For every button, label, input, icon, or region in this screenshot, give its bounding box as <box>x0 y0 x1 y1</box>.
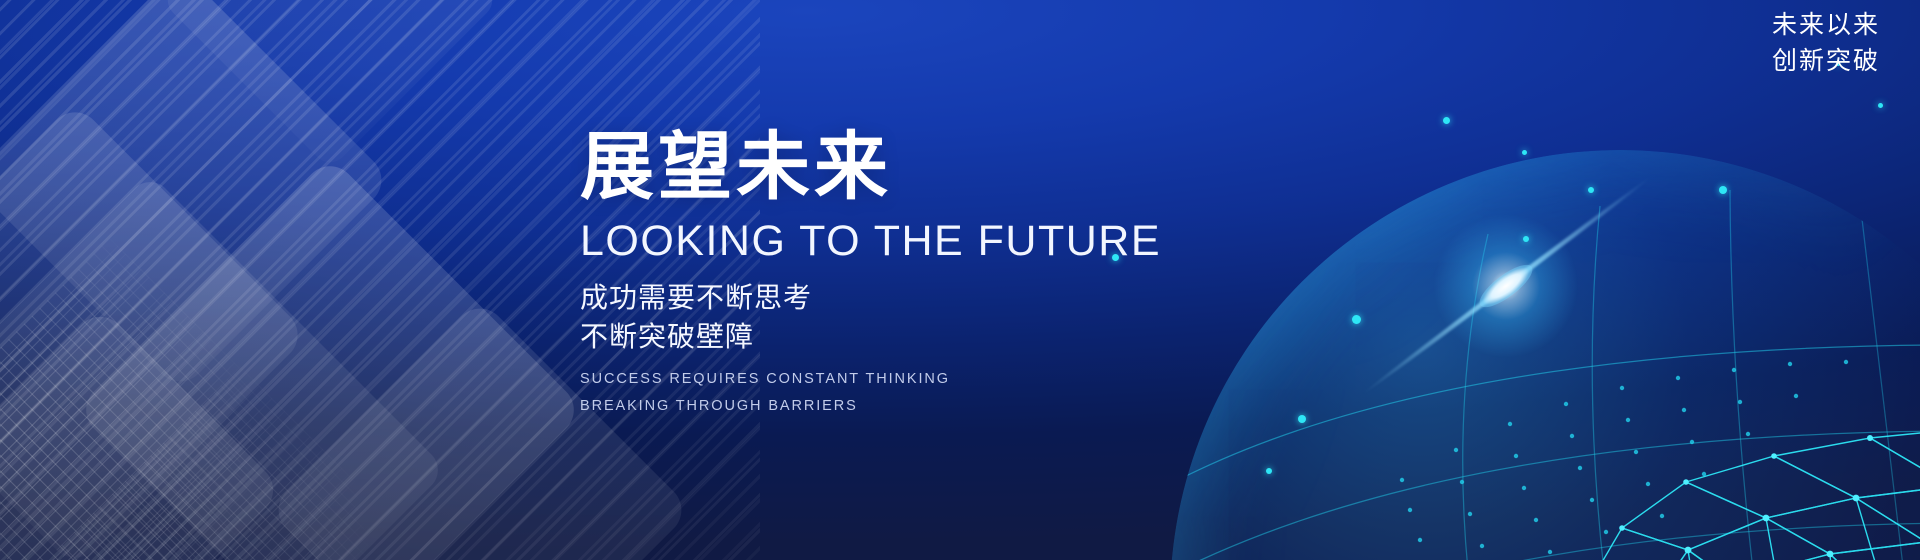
subtitle-chinese-line-2: 不断突破壁障 <box>580 318 1280 357</box>
diamond-shape-2 <box>0 102 308 560</box>
corner-slogan-line-1: 未来以来 <box>1772 8 1880 44</box>
floating-dot <box>1522 150 1527 155</box>
lens-flare-core <box>1474 258 1538 314</box>
floating-dot <box>1523 236 1529 242</box>
page-title: 展望未来 <box>580 128 1280 206</box>
floating-dot <box>1443 117 1450 124</box>
corner-slogan-line-2: 创新突破 <box>1772 44 1880 80</box>
dot-grid-pattern-icon <box>0 238 322 560</box>
floating-dot <box>1588 187 1594 193</box>
subtitle-chinese: 成功需要不断思考 不断突破壁障 <box>580 279 1280 356</box>
globe-rim-glow <box>1170 150 1920 560</box>
diamond-shape-3 <box>75 155 584 560</box>
globe-network-mesh-icon <box>1170 150 1920 560</box>
diamond-wedge <box>0 173 447 560</box>
globe-sphere <box>1170 150 1920 560</box>
corner-slogan: 未来以来 创新突破 <box>1772 8 1880 79</box>
subtitle-chinese-line-1: 成功需要不断思考 <box>580 279 1280 318</box>
page-title-english: LOOKING TO THE FUTURE <box>580 218 1280 265</box>
diamond-shape-1 <box>0 0 392 392</box>
lens-flare-streak <box>1361 176 1652 397</box>
floating-dot <box>1719 186 1727 194</box>
subtitle-english-line-2: BREAKING THROUGH BARRIERS <box>580 393 1280 420</box>
dot-grid-pattern-secondary-icon <box>56 366 424 560</box>
floating-dot <box>1266 468 1272 474</box>
diamond-shape-4 <box>0 306 284 560</box>
floating-dot <box>1298 415 1306 423</box>
lens-flare-glow <box>1431 211 1581 361</box>
subtitle-english-line-1: SUCCESS REQUIRES CONSTANT THINKING <box>580 366 1280 393</box>
wireframe-globe <box>1170 150 1920 560</box>
floating-dot <box>1352 315 1361 324</box>
subtitle-english: SUCCESS REQUIRES CONSTANT THINKING BREAK… <box>580 366 1280 420</box>
diamond-shape-6 <box>160 0 499 170</box>
hero-banner: 展望未来 LOOKING TO THE FUTURE 成功需要不断思考 不断突破… <box>0 0 1920 560</box>
headline-block: 展望未来 LOOKING TO THE FUTURE 成功需要不断思考 不断突破… <box>580 128 1280 420</box>
floating-dot <box>1878 103 1883 108</box>
